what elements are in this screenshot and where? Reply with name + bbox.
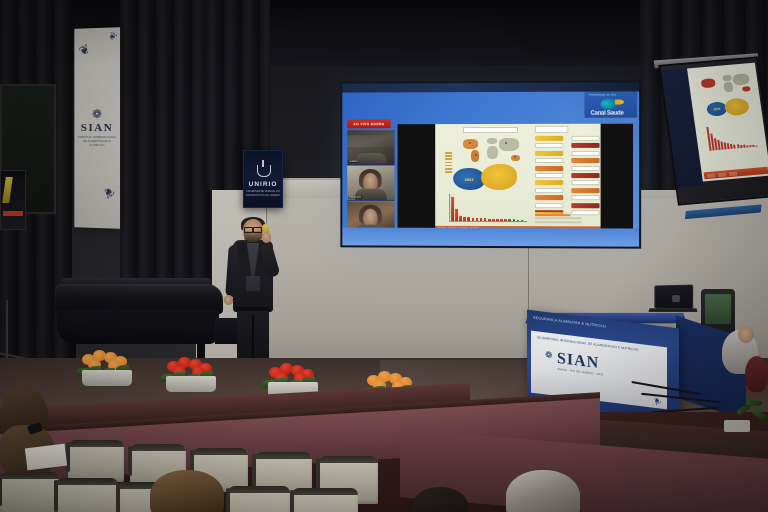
map-marker [475,154,477,156]
live-badge-label: AO VIVO AGORA [353,122,384,126]
leaf-icon: ❦ [105,30,118,44]
unirio-subtitle: UNIVERSIDADE FEDERAL DO ESTADO DO RIO DE… [244,190,282,198]
chart-bar [743,145,745,148]
sian-banner-name: SIAN [81,122,114,134]
slide-chip [571,151,599,156]
mic-stand [6,300,8,360]
taskbar-item[interactable] [718,172,727,177]
slide-chip [571,166,599,171]
stage-left-monitor [0,170,26,230]
thumbnail-room-body [355,153,387,164]
shared-screen-pane: 2023 [398,124,633,239]
sian-logo-mark-icon: ❁ [92,108,102,120]
slide-chip [535,158,563,163]
seated-attendee-right-2 [745,356,768,392]
chart-bar [752,145,754,147]
chart-bar [521,220,524,221]
attendee-head-2 [150,470,224,512]
planter-2-pot [166,376,216,392]
pane-letterbox-right [601,124,633,239]
piano-body [57,310,219,344]
slide-legend [535,211,581,225]
chart-bar [463,217,466,221]
chart-bar [500,219,503,221]
slide-side-ticks [445,152,453,178]
seat[interactable] [68,440,124,482]
slide-column-left [535,136,563,218]
world-map-graphic [461,136,525,164]
map-region [722,75,732,82]
participant-thumbnail-column: Auditorio Palestrante Participante [347,130,394,237]
chart-bar [496,219,499,221]
planter-2 [160,350,222,392]
infographic-slide: 2023 [435,124,600,233]
seat[interactable] [0,472,60,512]
sian-logo-mark-icon: ❁ [545,349,553,361]
slide-chip [571,180,599,185]
live-badge: AO VIVO AGORA [347,119,390,128]
thumbnail-room-label: Auditorio [348,160,359,163]
unirio-podium-sign: UNIRIO UNIVERSIDADE FEDERAL DO ESTADO DO… [243,150,283,208]
chart-bar [737,145,740,149]
presenter-hand-mic [262,232,271,243]
presenter-hand-free [224,295,233,305]
unirio-logo-icon [256,161,270,177]
map-marker [469,142,471,144]
highlight-year-label: 2023 [465,176,474,181]
chart-bar [513,220,516,222]
sian-hanging-banner: ❦ ❦ ❁ SIAN SIMPOSIO INTERNACIONAL DE ALI… [74,27,120,229]
side-monitor-map [698,71,753,97]
chart-bar [508,219,511,221]
slide-bar-chart [449,194,527,224]
map-region-europe [487,138,497,144]
slide-chip [571,173,599,178]
slide-chip [571,143,599,148]
side-monitor-yellow-badge [724,97,750,116]
laptop-logo-icon [672,295,680,302]
chart-bar [467,217,470,221]
decor-plant-pot [724,420,750,432]
slide-chip [535,173,563,178]
chart-bar [755,145,757,146]
chart-bar [476,218,479,221]
chart-bar [488,219,491,221]
taskbar-item[interactable] [729,171,738,176]
slide-chip [535,180,563,185]
chart-bar [455,209,458,221]
map-region [723,82,733,93]
slide-chip [571,188,599,193]
slide-chip [535,166,563,171]
presenter [219,219,285,377]
chart-bar [517,220,520,221]
curtain-left [120,0,212,300]
side-monitor-chart [705,121,760,151]
seat[interactable] [228,486,290,512]
map-marker [514,156,516,158]
map-region [742,86,751,92]
thumbnail-speaker-label: Palestrante [348,196,362,199]
seat[interactable] [292,488,358,512]
map-marker [505,142,507,144]
thumbnail-speaker[interactable]: Palestrante [347,166,394,201]
screen-bottom-fade [342,227,639,246]
presenter-beard [244,231,262,243]
thumbnail-room-scene [347,135,394,147]
broadcast-logo: Transmissao ao vivo Canal Saude [584,91,637,117]
side-monitor: 2023 [658,56,768,205]
chart-bar [451,197,454,221]
chart-bar [480,218,483,221]
leaf-icon: ❦ [99,183,117,202]
monitor-taskbar [3,211,23,216]
taskbar-item[interactable] [707,173,716,178]
monitor-graphic [2,177,13,203]
side-monitor-year-label: 2023 [713,107,720,112]
chart-bar [504,219,507,221]
planter-1-pot [82,370,132,386]
seat[interactable] [56,478,118,512]
year-highlight-yellow [481,164,517,190]
map-region-asia [499,138,519,151]
laptop-base [649,308,698,312]
slide-chip [571,195,599,200]
map-region [701,78,716,88]
chart-bar [749,145,751,147]
slide-chip [535,203,563,208]
attendee-head-4 [506,470,580,512]
thumbnail-room[interactable]: Auditorio [347,130,394,165]
slide-chip [535,136,563,141]
seated-attendee-right-head [738,326,754,343]
pane-letterbox-left [398,124,436,238]
chart-bar [484,218,487,221]
map-region [732,73,749,85]
slide-chip [571,136,599,141]
leaf-icon: ❦ [76,41,92,60]
chart-bar [459,216,462,221]
laptop-lid [654,284,693,309]
slide-chip [571,203,599,208]
slide-chip [535,195,563,200]
chart-bar [472,218,475,221]
toucan-beak-icon [615,100,624,105]
broadcast-wordmark: Canal Saude [590,111,623,117]
slide-header-box-2 [535,126,568,133]
slide-chip [535,151,563,156]
slide-header-box [463,127,518,133]
slide-column-right [571,136,599,218]
conference-photo-scene: ❦ ❦ ❁ SIAN SIMPOSIO INTERNACIONAL DE ALI… [0,0,768,512]
map-region-north-america [463,139,478,149]
chair-cushion [705,294,731,324]
slide-chip [535,188,563,193]
chart-bar [492,219,495,221]
main-projection-screen: Transmissao ao vivo Canal Saude AO VIVO … [342,82,639,246]
sian-banner-subtitle: SIMPOSIO INTERNACIONAL DE ALIMENTACAO E … [77,136,117,148]
unirio-name: UNIRIO [249,181,278,188]
chart-bar [740,145,742,148]
slide-chip [535,143,563,148]
chart-bar [746,145,748,148]
slide-chip [571,158,599,163]
planter-1 [76,344,138,386]
broadcast-tagline: Transmissao ao vivo [588,94,616,97]
map-region-africa [487,146,498,159]
